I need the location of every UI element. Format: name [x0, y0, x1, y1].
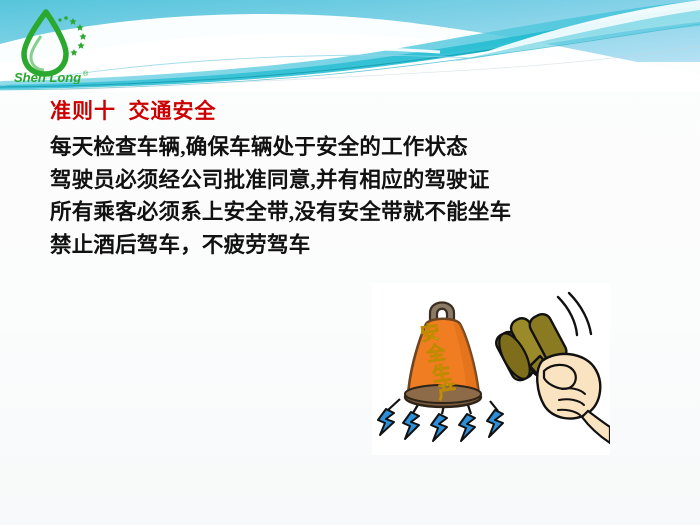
body-line-3: 所有乘客必须系上安全带,没有安全带就不能坐车 — [50, 196, 660, 229]
slide-title: 准则十 交通安全 — [50, 96, 660, 126]
shen-long-logo: Shen Long ® — [8, 6, 104, 84]
safety-bell-illustration: 安 全 生 产 — [372, 283, 610, 455]
svg-text:产: 产 — [436, 378, 458, 403]
body-line-1: 每天检查车辆,确保车辆处于安全的工作状态 — [50, 131, 660, 164]
slide-content: 准则十 交通安全 每天检查车辆,确保车辆处于安全的工作状态 驾驶员必须经公司批准… — [50, 96, 660, 261]
body-line-2: 驾驶员必须经公司批准同意,并有相应的驾驶证 — [50, 164, 660, 197]
illustration-graphic: 安 全 生 产 — [372, 283, 610, 455]
header-banner — [0, 0, 700, 92]
slide-canvas: Shen Long ® 准则十 交通安全 每天检查车辆,确保车辆处于安全的工作状… — [0, 0, 700, 525]
body-line-4: 禁止酒后驾车，不疲劳驾车 — [50, 229, 660, 262]
logo-registered-mark: ® — [83, 70, 89, 78]
header-wave-graphic — [0, 0, 700, 92]
logo-graphic: Shen Long ® — [8, 6, 104, 84]
logo-brand-text: Shen Long — [14, 70, 81, 84]
